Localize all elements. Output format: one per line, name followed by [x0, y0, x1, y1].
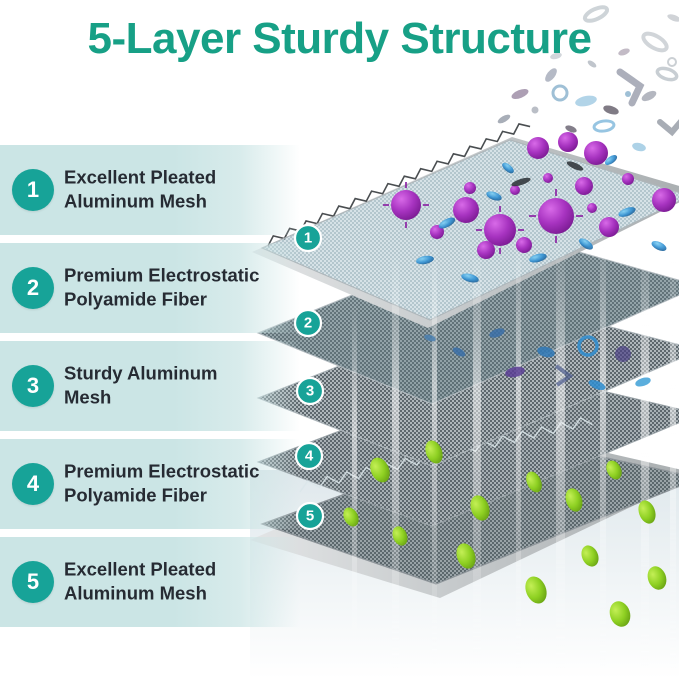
- layer-badge-1-label: 1: [304, 230, 312, 247]
- legend-number-5: 5: [12, 561, 54, 603]
- page-title: 5-Layer Sturdy Structure: [0, 14, 679, 64]
- legend-row-4[interactable]: 4 Premium ElectrostaticPolyamide Fiber: [0, 439, 300, 529]
- legend-number-2: 2: [12, 267, 54, 309]
- layer-badge-3[interactable]: 3: [297, 378, 323, 404]
- layer-badge-5-label: 5: [306, 508, 314, 525]
- layer-badge-4-label: 4: [305, 448, 314, 465]
- layer-legend-list: 1 Excellent PleatedAluminum Mesh 2 Premi…: [0, 145, 300, 635]
- legend-label-2: Premium ElectrostaticPolyamide Fiber: [64, 264, 294, 313]
- legend-row-5[interactable]: 5 Excellent PleatedAluminum Mesh: [0, 537, 300, 627]
- legend-number-3: 3: [12, 365, 54, 407]
- legend-row-3[interactable]: 3 Sturdy AluminumMesh: [0, 341, 300, 431]
- legend-number-4: 4: [12, 463, 54, 505]
- legend-row-2[interactable]: 2 Premium ElectrostaticPolyamide Fiber: [0, 243, 300, 333]
- layer-badge-2-label: 2: [304, 315, 312, 332]
- infographic-page: 1 2 3 4 5 5-Layer Sturdy Structure 1: [0, 0, 679, 679]
- legend-label-1: Excellent PleatedAluminum Mesh: [64, 166, 294, 215]
- legend-row-1[interactable]: 1 Excellent PleatedAluminum Mesh: [0, 145, 300, 235]
- legend-label-5: Excellent PleatedAluminum Mesh: [64, 558, 294, 607]
- layer-badge-5[interactable]: 5: [297, 503, 323, 529]
- layer-badge-3-label: 3: [306, 383, 314, 400]
- legend-label-4: Premium ElectrostaticPolyamide Fiber: [64, 460, 294, 509]
- legend-label-3: Sturdy AluminumMesh: [64, 362, 294, 411]
- legend-number-1: 1: [12, 169, 54, 211]
